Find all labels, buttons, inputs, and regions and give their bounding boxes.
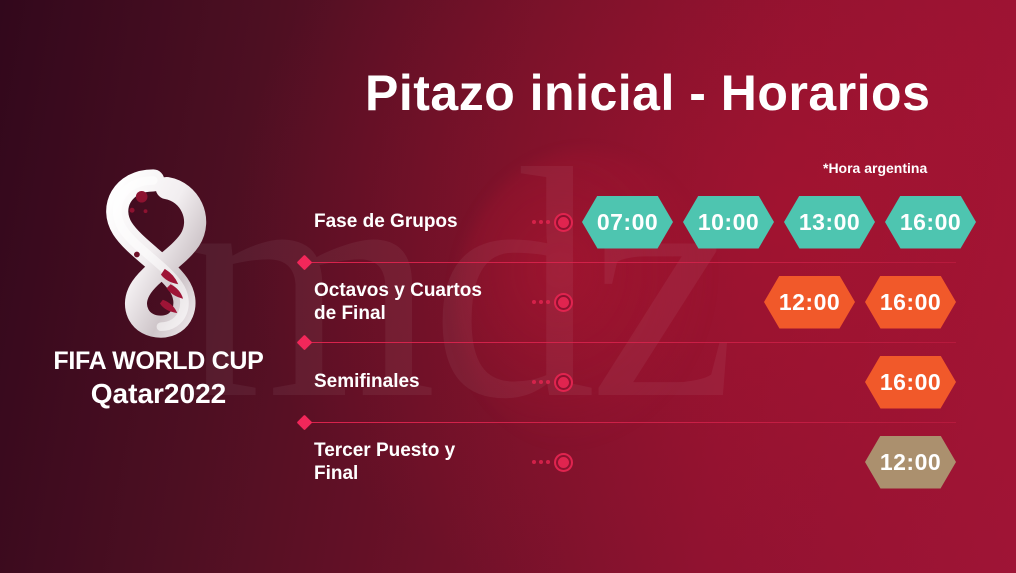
time-badge-group: 12:00 <box>582 436 956 489</box>
stage-label: Semifinales <box>314 370 536 393</box>
dotted-connector <box>532 455 582 470</box>
schedule-row-content: Fase de Grupos07:0010:0013:0016:00 <box>314 182 956 262</box>
connector-dot-icon <box>539 380 543 384</box>
schedule-row: Octavos y Cuartosde Final12:0016:00 <box>300 262 956 342</box>
time-badge: 12:00 <box>764 276 855 329</box>
time-badge: 16:00 <box>885 196 976 249</box>
schedule-row: Fase de Grupos07:0010:0013:0016:00 <box>300 182 956 262</box>
time-badge: 16:00 <box>865 356 956 409</box>
timezone-note: *Hora argentina <box>823 160 927 176</box>
connector-dot-icon <box>546 220 550 224</box>
time-badge: 16:00 <box>865 276 956 329</box>
connector-dot-icon <box>539 220 543 224</box>
logo-title: FIFA WORLD CUP <box>53 347 263 376</box>
target-marker-icon <box>556 295 571 310</box>
connector-dot-icon <box>532 380 536 384</box>
stage-label: Octavos y Cuartosde Final <box>314 279 536 325</box>
connector-dot-icon <box>546 300 550 304</box>
schedule-row-content: Semifinales16:00 <box>314 342 956 422</box>
connector-dot-icon <box>532 300 536 304</box>
qatar-2022-emblem-icon <box>79 165 239 343</box>
target-marker-icon <box>556 455 571 470</box>
connector-dot-icon <box>546 460 550 464</box>
dotted-connector <box>532 215 582 230</box>
connector-dot-icon <box>532 460 536 464</box>
target-marker-icon <box>556 375 571 390</box>
page-title: Pitazo inicial - Horarios <box>365 64 930 122</box>
schedule-list: Fase de Grupos07:0010:0013:0016:00Octavo… <box>300 182 956 502</box>
time-badge: 12:00 <box>865 436 956 489</box>
fifa-world-cup-logo: FIFA WORLD CUP Qatar2022 <box>36 165 281 410</box>
time-badge: 13:00 <box>784 196 875 249</box>
schedule-row-content: Octavos y Cuartosde Final12:0016:00 <box>314 262 956 342</box>
connector-dot-icon <box>539 460 543 464</box>
schedule-row: Tercer Puesto yFinal12:00 <box>300 422 956 502</box>
time-badge-group: 16:00 <box>582 356 956 409</box>
connector-dot-icon <box>546 380 550 384</box>
schedule-row: Semifinales16:00 <box>300 342 956 422</box>
target-marker-icon <box>556 215 571 230</box>
time-badge-group: 07:0010:0013:0016:00 <box>582 196 976 249</box>
time-badge: 10:00 <box>683 196 774 249</box>
dotted-connector <box>532 295 582 310</box>
dotted-connector <box>532 375 582 390</box>
time-badge-group: 12:0016:00 <box>582 276 956 329</box>
schedule-row-content: Tercer Puesto yFinal12:00 <box>314 422 956 502</box>
logo-subtitle: Qatar2022 <box>91 378 226 410</box>
time-badge: 07:00 <box>582 196 673 249</box>
connector-dot-icon <box>539 300 543 304</box>
stage-label: Fase de Grupos <box>314 210 536 233</box>
connector-dot-icon <box>532 220 536 224</box>
stage-label: Tercer Puesto yFinal <box>314 439 536 485</box>
